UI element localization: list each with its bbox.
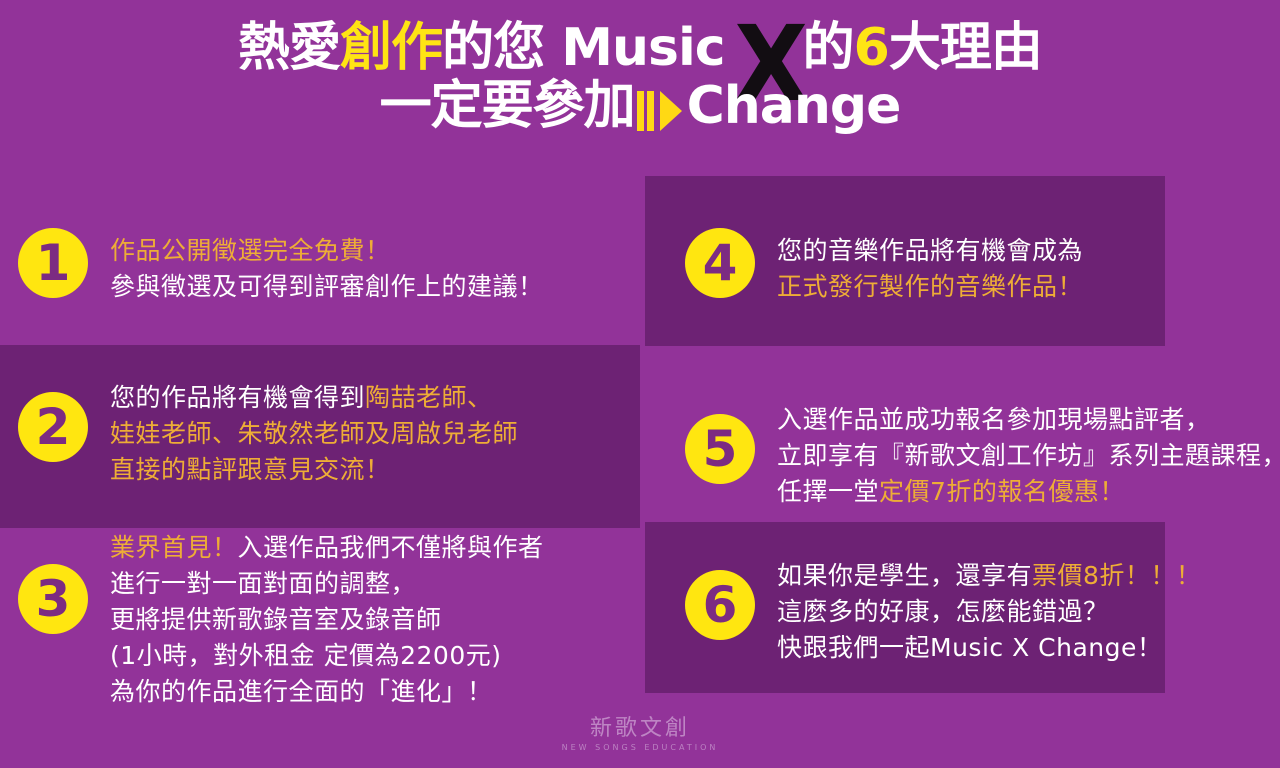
reason-text-span: 您的作品將有機會得到 xyxy=(110,383,365,412)
title-line-2: 一定要參加Change xyxy=(0,80,1280,134)
reason-text-span: 票價8折！！！ xyxy=(1032,561,1201,590)
reason-text-span: 進行一對一面對面的調整， xyxy=(110,569,416,598)
reason-badge-4: 4 xyxy=(685,228,755,298)
reason-text-span: (1小時，對外租金 定價為2200元) xyxy=(110,641,501,670)
reason-text-1: 作品公開徵選完全免費！ 參與徵選及可得到評審創作上的建議！ xyxy=(110,228,544,305)
reason-item-4: 4 您的音樂作品將有機會成為 正式發行製作的音樂作品！ xyxy=(685,228,1083,305)
reason-text-span: 直接的點評跟意見交流！ xyxy=(110,455,391,484)
reason-line: (1小時，對外租金 定價為2200元) xyxy=(110,638,544,674)
reason-text-span: 您的音樂作品將有機會成為 xyxy=(777,236,1083,265)
reason-line: 作品公開徵選完全免費！ xyxy=(110,233,544,269)
poster-header: X 熱愛創作的您 Music的6大理由 一定要參加Change xyxy=(0,0,1280,160)
reason-text-span: 任擇一堂 xyxy=(777,477,879,506)
pause-play-icon xyxy=(637,82,682,134)
footer-logo: 新歌文創 NEW SONGS EDUCATION xyxy=(0,716,1280,754)
reason-line: 任擇一堂定價7折的報名優惠！ xyxy=(777,474,1280,510)
reason-item-1: 1 作品公開徵選完全免費！ 參與徵選及可得到評審創作上的建議！ xyxy=(18,228,544,305)
reason-line: 參與徵選及可得到評審創作上的建議！ xyxy=(110,269,544,305)
title-seg-4: 的 xyxy=(803,18,854,78)
poster-canvas: X 熱愛創作的您 Music的6大理由 一定要參加Change 1 作品公開徵選… xyxy=(0,0,1280,768)
reason-text-span: 定價7折的報名優惠！ xyxy=(879,477,1125,506)
title-seg-1: 熱愛 xyxy=(238,18,340,78)
title-line2-seg-2: Change xyxy=(687,76,901,136)
reason-line: 更將提供新歌錄音室及錄音師 xyxy=(110,602,544,638)
title-line-1: 熱愛創作的您 Music的6大理由 xyxy=(0,22,1280,74)
reason-text-2: 您的作品將有機會得到陶喆老師、 娃娃老師、朱敬然老師及周啟兒老師 直接的點評跟意… xyxy=(110,378,518,488)
reason-item-3: 3 業界首見！入選作品我們不僅將與作者 進行一對一面對面的調整， 更將提供新歌錄… xyxy=(18,528,544,710)
reason-text-span: 業界首見！ xyxy=(110,533,238,562)
reason-text-span: 快跟我們一起Music X Change！ xyxy=(777,633,1162,662)
footer-logo-english: NEW SONGS EDUCATION xyxy=(0,742,1280,754)
reason-line: 業界首見！入選作品我們不僅將與作者 xyxy=(110,530,544,566)
reason-text-span: 娃娃老師、朱敬然老師及周啟兒老師 xyxy=(110,419,518,448)
title-seg-6: 大理由 xyxy=(889,18,1042,78)
reason-text-span: 正式發行製作的音樂作品！ xyxy=(777,272,1083,301)
title-seg-3: 的您 Music xyxy=(442,18,724,78)
reason-text-4: 您的音樂作品將有機會成為 正式發行製作的音樂作品！ xyxy=(777,228,1083,305)
reason-text-span: 陶喆老師、 xyxy=(365,383,493,412)
reason-text-5: 入選作品並成功報名參加現場點評者， 立即享有『新歌文創工作坊』系列主題課程， 任… xyxy=(777,400,1280,510)
title-seg-2: 創作 xyxy=(340,18,442,78)
reason-line: 進行一對一面對面的調整， xyxy=(110,566,544,602)
reason-text-6: 如果你是學生，還享有票價8折！！！ 這麼多的好康，怎麼能錯過？ 快跟我們一起Mu… xyxy=(777,556,1201,666)
reason-item-5: 5 入選作品並成功報名參加現場點評者， 立即享有『新歌文創工作坊』系列主題課程，… xyxy=(685,400,1280,510)
reason-badge-1: 1 xyxy=(18,228,88,298)
reason-text-span: 立即享有『新歌文創工作坊』系列主題課程， xyxy=(777,441,1280,470)
reason-text-span: 入選作品我們不僅將與作者 xyxy=(238,533,544,562)
reason-line: 為你的作品進行全面的「進化」！ xyxy=(110,674,544,710)
reason-item-6: 6 如果你是學生，還享有票價8折！！！ 這麼多的好康，怎麼能錯過？ 快跟我們一起… xyxy=(685,556,1201,666)
reason-line: 您的音樂作品將有機會成為 xyxy=(777,233,1083,269)
reason-text-span: 為你的作品進行全面的「進化」！ xyxy=(110,677,493,706)
reason-text-span: 如果你是學生，還享有 xyxy=(777,561,1032,590)
reason-line: 娃娃老師、朱敬然老師及周啟兒老師 xyxy=(110,416,518,452)
title-line2-seg-1: 一定要參加 xyxy=(380,76,635,136)
reason-text-span: 更將提供新歌錄音室及錄音師 xyxy=(110,605,442,634)
reason-line: 如果你是學生，還享有票價8折！！！ xyxy=(777,558,1201,594)
reason-line: 直接的點評跟意見交流！ xyxy=(110,452,518,488)
reason-line: 正式發行製作的音樂作品！ xyxy=(777,269,1083,305)
reason-badge-3: 3 xyxy=(18,564,88,634)
reason-text-span: 這麼多的好康，怎麼能錯過？ xyxy=(777,597,1109,626)
reason-badge-5: 5 xyxy=(685,414,755,484)
reason-badge-2: 2 xyxy=(18,392,88,462)
reason-item-2: 2 您的作品將有機會得到陶喆老師、 娃娃老師、朱敬然老師及周啟兒老師 直接的點評… xyxy=(18,378,518,488)
reason-text-span: 入選作品並成功報名參加現場點評者， xyxy=(777,405,1211,434)
reason-text-span: 作品公開徵選完全免費！ xyxy=(110,236,391,265)
reason-line: 入選作品並成功報名參加現場點評者， xyxy=(777,402,1280,438)
title-seg-5: 6 xyxy=(854,18,889,78)
reason-line: 快跟我們一起Music X Change！ xyxy=(777,630,1201,666)
footer-logo-chinese: 新歌文創 xyxy=(0,716,1280,742)
reason-text-span: 參與徵選及可得到評審創作上的建議！ xyxy=(110,272,544,301)
reason-line: 您的作品將有機會得到陶喆老師、 xyxy=(110,380,518,416)
reason-line: 這麼多的好康，怎麼能錯過？ xyxy=(777,594,1201,630)
reason-line: 立即享有『新歌文創工作坊』系列主題課程， xyxy=(777,438,1280,474)
reason-text-3: 業界首見！入選作品我們不僅將與作者 進行一對一面對面的調整， 更將提供新歌錄音室… xyxy=(110,528,544,710)
reason-badge-6: 6 xyxy=(685,570,755,640)
